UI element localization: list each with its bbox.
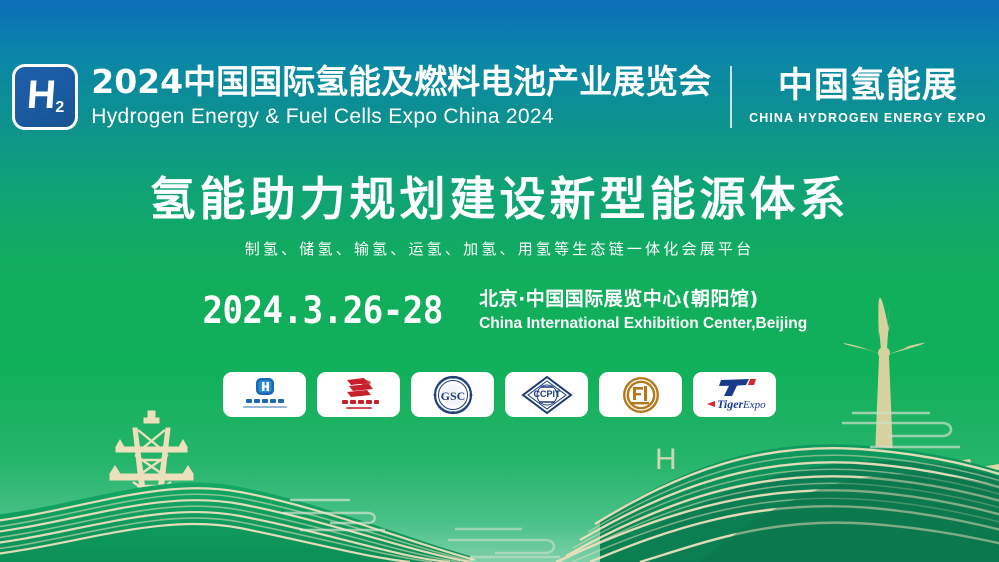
cloud-swirl-lower <box>448 529 565 562</box>
hill-lines-left <box>0 488 475 562</box>
chn-energy-mark <box>347 378 373 397</box>
hydrogen-alliance-cn <box>246 399 284 403</box>
sponsor-logo-strip: GSC CCPIT <box>0 372 999 417</box>
poster-canvas: H H 2 2024中国国际氢能及燃料电池产业展览会 Hydrogen Ener… <box>0 0 999 562</box>
event-title-en: Hydrogen Energy & Fuel Cells Expo China … <box>91 104 711 130</box>
tiger-expo-wordmark: Tiger Expo <box>707 397 766 411</box>
transmission-tower-icon <box>110 411 193 528</box>
hydrogen-watermark-letter: H <box>655 443 677 477</box>
venue-en: China International Exhibition Center,Be… <box>479 314 807 333</box>
hill-lines-right-2 <box>560 455 999 562</box>
cloud-swirl-center <box>283 500 385 530</box>
event-title-cn: 2024中国国际氢能及燃料电池产业展览会 <box>91 64 711 100</box>
hill-left <box>0 483 470 562</box>
event-date: 2024.3.26-28 <box>202 292 442 329</box>
h2-logo-mark: H 2 <box>12 64 78 130</box>
ccpit-seal-mark: CCPIT <box>523 377 571 413</box>
hill-lines-right <box>556 448 999 562</box>
event-shortname-cn: 中国氢能展 <box>749 68 987 106</box>
tiger-expo-mark <box>719 379 756 396</box>
h2-logo-subscript: 2 <box>55 100 64 116</box>
svg-text:Tiger: Tiger <box>717 397 744 411</box>
svg-text:Expo: Expo <box>742 399 766 411</box>
poster-subheadline: 制氢、储氢、输氢、运氢、加氢、用氢等生态链一体化会展平台 <box>0 240 999 258</box>
logo-gsc-association[interactable]: GSC <box>411 372 494 417</box>
event-shortname-en: CHINA HYDROGEN ENERGY EXPO <box>749 111 987 126</box>
date-venue-row: 2024.3.26-28 北京·中国国际展览中心(朝阳馆) China Inte… <box>0 288 999 333</box>
hydrogen-alliance-mark <box>256 378 274 395</box>
event-venue: 北京·中国国际展览中心(朝阳馆) China International Exh… <box>479 288 807 333</box>
bhpte-seal-mark <box>623 375 659 413</box>
solar-panels-icon <box>905 459 999 492</box>
hill-shade-right <box>700 474 999 562</box>
title-left: 2024中国国际氢能及燃料电池产业展览会 Hydrogen Energy & F… <box>91 64 711 130</box>
cloud-swirl-right <box>842 413 960 447</box>
hill-right-dark <box>640 461 999 562</box>
hydrogen-alliance-en <box>243 406 287 408</box>
logo-ccpit[interactable]: CCPIT <box>505 372 588 417</box>
svg-text:GSC: GSC <box>440 389 465 403</box>
hill-lines-left-2 <box>0 494 472 562</box>
venue-cn: 北京·中国国际展览中心(朝阳馆) <box>479 288 807 312</box>
poster-headline: 氢能助力规划建设新型能源体系 <box>0 174 999 225</box>
poster-header: H 2 2024中国国际氢能及燃料电池产业展览会 Hydrogen Energy… <box>0 64 999 130</box>
logo-bhpte-association[interactable] <box>599 372 682 417</box>
logo-chn-energy[interactable] <box>317 372 400 417</box>
logo-china-hydrogen-alliance[interactable] <box>223 372 306 417</box>
h2-logo-letter: H <box>26 75 57 115</box>
svg-text:CCPIT: CCPIT <box>533 389 561 399</box>
chn-energy-en <box>346 407 372 409</box>
header-divider <box>730 66 732 128</box>
gsc-seal-mark: GSC <box>433 376 472 413</box>
title-right: 中国氢能展 CHINA HYDROGEN ENERGY EXPO <box>749 68 987 126</box>
logo-tiger-expo[interactable]: Tiger Expo <box>693 372 776 417</box>
title-block: 2024中国国际氢能及燃料电池产业展览会 Hydrogen Energy & F… <box>91 64 987 130</box>
chn-energy-cn <box>342 400 379 404</box>
